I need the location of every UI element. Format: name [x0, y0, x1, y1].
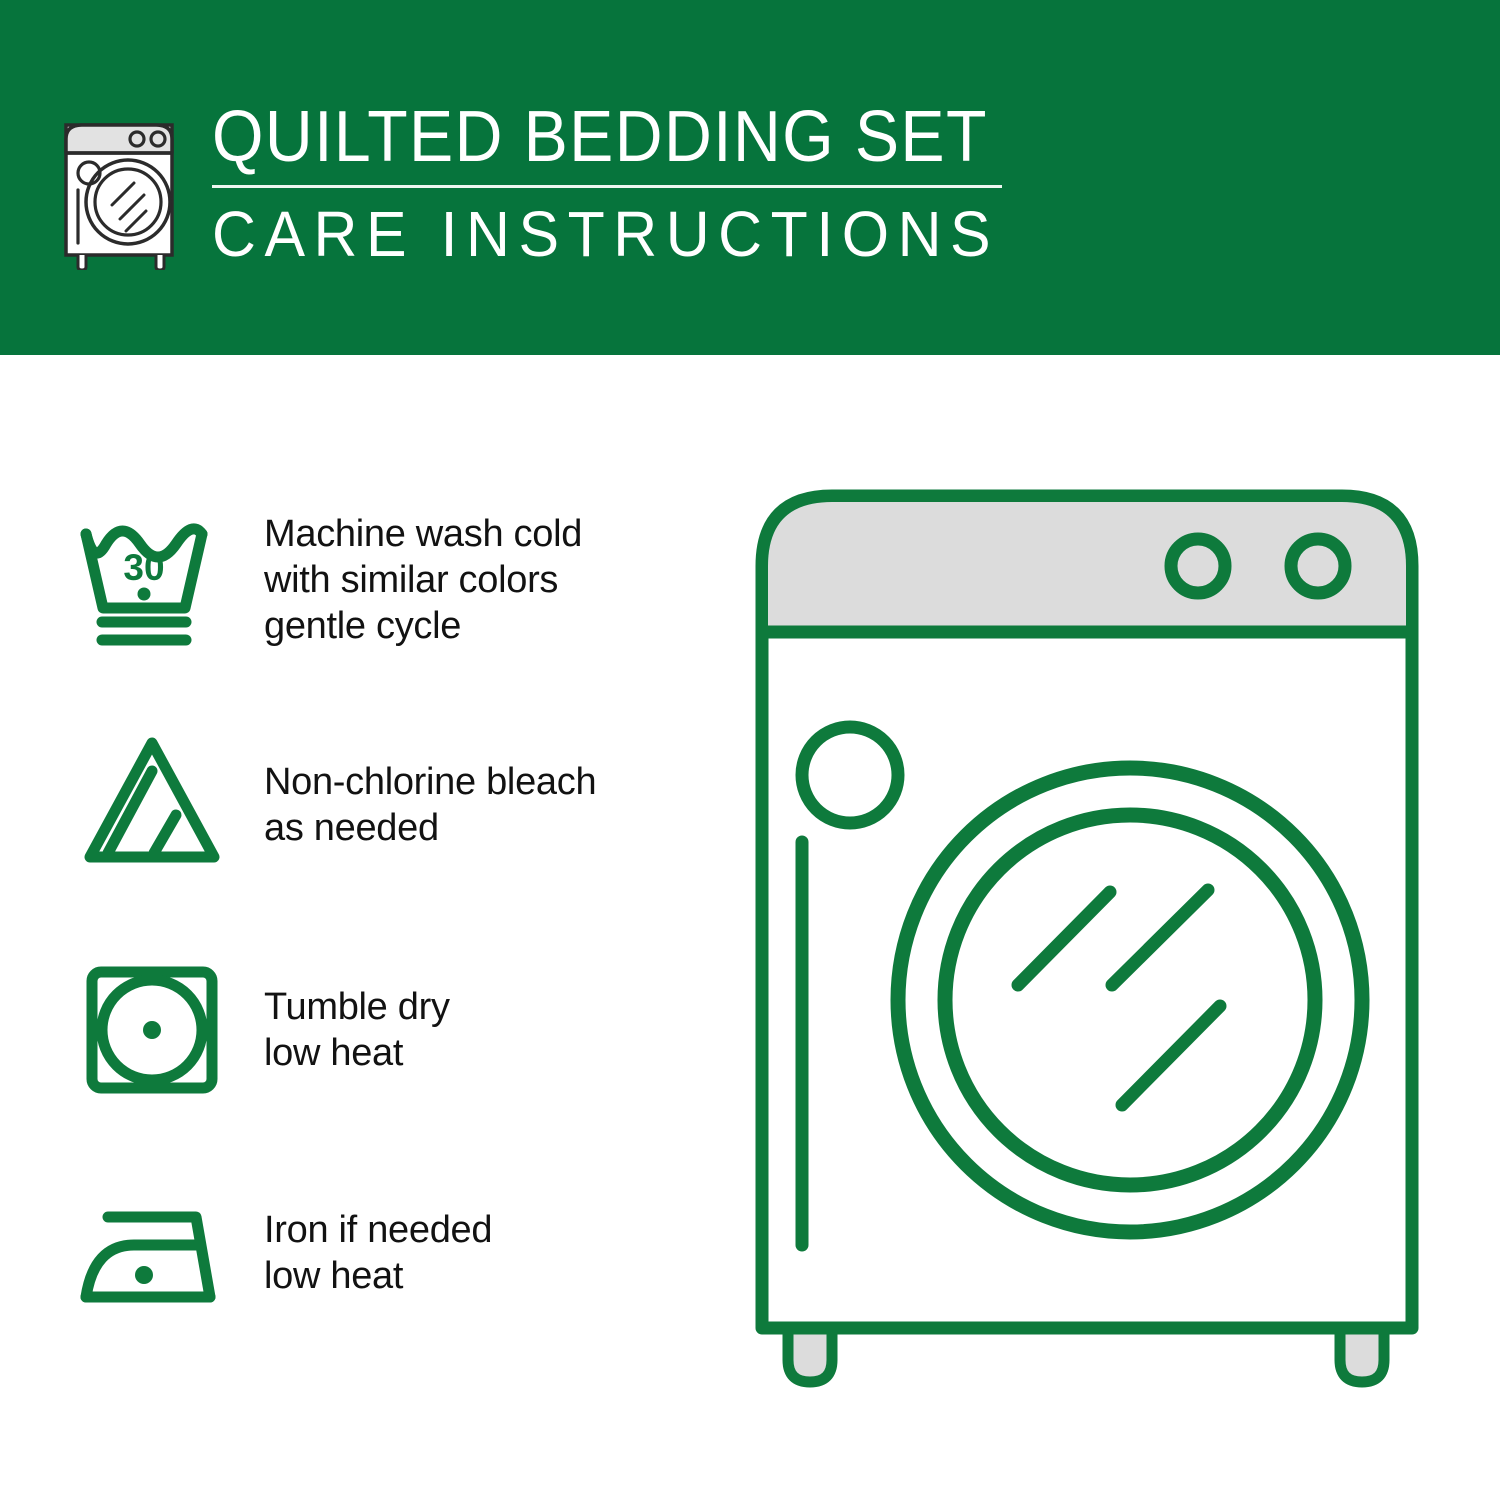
- care-text-tumble-dry: Tumble dry low heat: [264, 984, 450, 1076]
- care-text-iron: Iron if needed low heat: [264, 1207, 492, 1299]
- page-subtitle: CARE INSTRUCTIONS: [212, 200, 1013, 268]
- control-panel: [768, 502, 1406, 630]
- wash-temperature-value: 30: [123, 547, 164, 588]
- non-chlorine-bleach-triangle-icon: [72, 725, 232, 885]
- washing-machine-illustration: [740, 470, 1480, 1450]
- care-row-bleach: Non-chlorine bleach as needed: [72, 725, 712, 885]
- washing-machine-icon: [58, 95, 190, 270]
- care-instructions-list: 30 Machine wash cold with similar colors…: [0, 355, 740, 1500]
- header-divider: [212, 185, 1002, 188]
- header-content: QUILTED BEDDING SET CARE INSTRUCTIONS: [58, 95, 1055, 270]
- care-text-bleach: Non-chlorine bleach as needed: [264, 759, 596, 851]
- page-title: QUILTED BEDDING SET: [212, 99, 988, 175]
- care-row-iron: Iron if needed low heat: [72, 1173, 712, 1333]
- iron-low-heat-icon: [72, 1173, 232, 1333]
- header-banner: QUILTED BEDDING SET CARE INSTRUCTIONS: [0, 0, 1500, 355]
- tumble-dry-low-heat-icon: [72, 950, 232, 1110]
- care-row-machine-wash: 30 Machine wash cold with similar colors…: [72, 500, 712, 660]
- care-text-machine-wash: Machine wash cold with similar colors ge…: [264, 511, 582, 649]
- header-text-block: QUILTED BEDDING SET CARE INSTRUCTIONS: [212, 95, 1055, 268]
- wash-tub-30-gentle-icon: 30: [72, 500, 232, 660]
- care-row-tumble-dry: Tumble dry low heat: [72, 950, 712, 1110]
